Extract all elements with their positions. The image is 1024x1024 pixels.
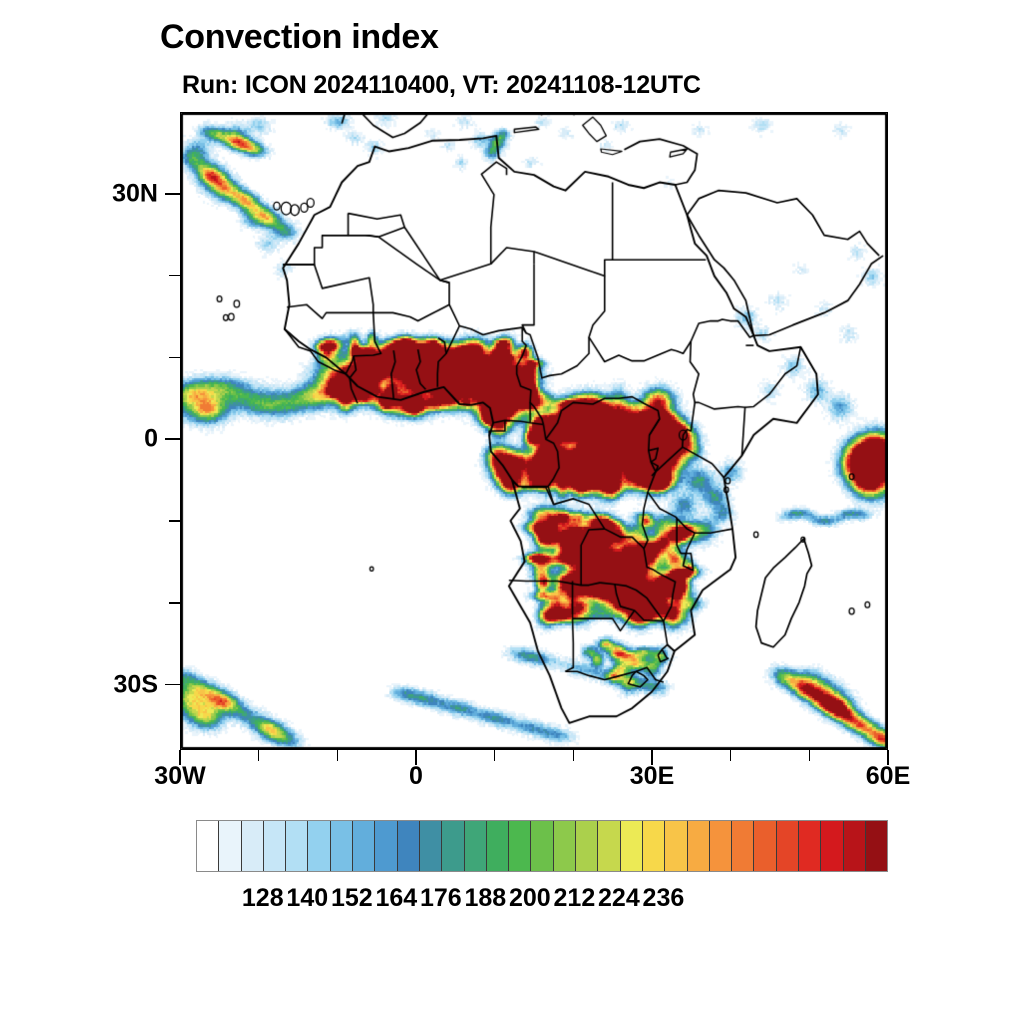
x-tick-label: 30W — [154, 762, 205, 791]
colorbar-cell — [398, 821, 420, 871]
colorbar-cell — [242, 821, 264, 871]
chart-title: Convection index — [160, 18, 439, 57]
colorbar-cell — [777, 821, 799, 871]
chart-subtitle: Run: ICON 2024110400, VT: 20241108-12UTC — [182, 71, 701, 100]
colorbar — [196, 820, 888, 872]
y-tick-minor — [169, 357, 180, 359]
colorbar-cell — [643, 821, 665, 871]
colorbar-cell — [554, 821, 576, 871]
y-tick-major — [165, 684, 180, 686]
colorbar-cell — [375, 821, 397, 871]
colorbar-tick-label: 200 — [509, 884, 551, 913]
colorbar-cell — [866, 821, 887, 871]
y-tick-label: 0 — [144, 425, 158, 454]
y-tick-minor — [169, 275, 180, 277]
x-tick-label: 30E — [630, 762, 674, 791]
map-plot-area — [180, 112, 888, 750]
x-tick-label: 60E — [866, 762, 910, 791]
colorbar-labels: 128140152164176188200212224236 — [0, 884, 1024, 924]
colorbar-tick-label: 212 — [554, 884, 596, 913]
x-tick-minor — [258, 750, 260, 761]
y-tick-major — [165, 438, 180, 440]
colorbar-tick-label: 176 — [420, 884, 462, 913]
colorbar-cell — [331, 821, 353, 871]
colorbar-cell — [197, 821, 219, 871]
x-tick-minor — [809, 750, 811, 761]
colorbar-tick-label: 236 — [643, 884, 685, 913]
colorbar-cell — [621, 821, 643, 871]
colorbar-cell — [308, 821, 330, 871]
colorbar-tick-label: 140 — [286, 884, 328, 913]
colorbar-cell — [844, 821, 866, 871]
convection-index-map — [181, 113, 887, 749]
colorbar-tick-label: 128 — [242, 884, 284, 913]
colorbar-cell — [598, 821, 620, 871]
colorbar-cell — [353, 821, 375, 871]
y-tick-minor — [169, 520, 180, 522]
y-tick-minor — [169, 602, 180, 604]
colorbar-cell — [531, 821, 553, 871]
x-tick-minor — [730, 750, 732, 761]
colorbar-cell — [487, 821, 509, 871]
x-tick-minor — [337, 750, 339, 761]
colorbar-cell — [576, 821, 598, 871]
x-tick-minor — [494, 750, 496, 761]
colorbar-tick-label: 152 — [331, 884, 373, 913]
colorbar-cell — [509, 821, 531, 871]
colorbar-cell — [665, 821, 687, 871]
colorbar-cell — [732, 821, 754, 871]
x-tick-label: 0 — [409, 762, 423, 791]
colorbar-cell — [465, 821, 487, 871]
colorbar-cell — [264, 821, 286, 871]
colorbar-cell — [710, 821, 732, 871]
colorbar-cell — [754, 821, 776, 871]
colorbar-cell — [821, 821, 843, 871]
colorbar-cell — [442, 821, 464, 871]
y-tick-major — [165, 193, 180, 195]
colorbar-cell — [799, 821, 821, 871]
y-tick-label: 30S — [114, 670, 158, 699]
colorbar-tick-label: 188 — [464, 884, 506, 913]
colorbar-tick-label: 224 — [598, 884, 640, 913]
colorbar-cell — [286, 821, 308, 871]
y-tick-label: 30N — [112, 179, 158, 208]
colorbar-tick-label: 164 — [375, 884, 417, 913]
x-tick-minor — [573, 750, 575, 761]
colorbar-cell — [688, 821, 710, 871]
y-axis-labels: 30N030S — [0, 0, 158, 1024]
colorbar-cell — [219, 821, 241, 871]
colorbar-cell — [420, 821, 442, 871]
